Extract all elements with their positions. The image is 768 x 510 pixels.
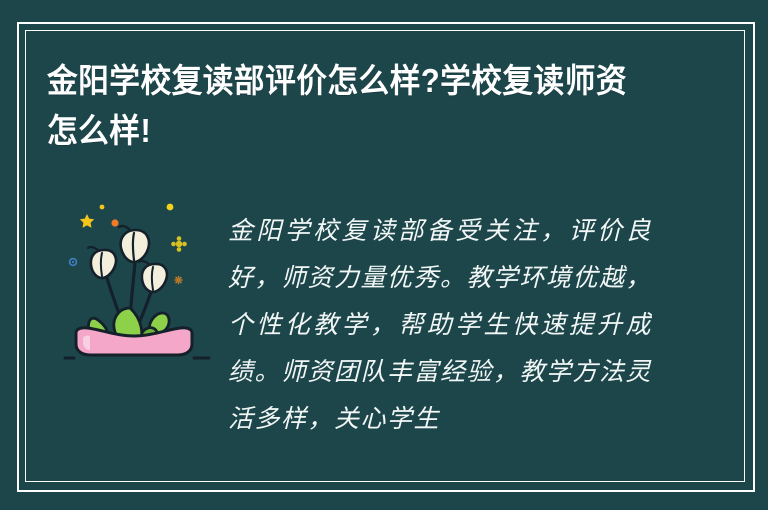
potted-cotton-plant-illustration (62, 192, 212, 362)
page-title: 金阳学校复读部评价怎么样?学校复读师资怎么样! (47, 56, 642, 156)
cotton-bloom-center (119, 226, 149, 262)
body-paragraph: 金阳学校复读部备受关注，评价良好，师资力量优秀。教学环境优越，个性化教学，帮助学… (228, 208, 652, 443)
confetti-flower-yellow-icon (171, 236, 187, 252)
cotton-bloom-right (139, 261, 167, 292)
confetti-dot-yellow-small-icon (100, 205, 105, 210)
confetti-star-yellow-icon (80, 214, 94, 228)
poster-canvas: 金阳学校复读部评价怎么样?学校复读师资怎么样! (0, 0, 768, 510)
confetti-circle-blue-icon (70, 259, 77, 266)
cotton-bloom-left (88, 247, 116, 278)
confetti-dot-yellow-top-icon (167, 204, 174, 211)
confetti-sparkle-brown-icon (175, 277, 182, 284)
confetti-dot-orange-icon (111, 219, 118, 226)
